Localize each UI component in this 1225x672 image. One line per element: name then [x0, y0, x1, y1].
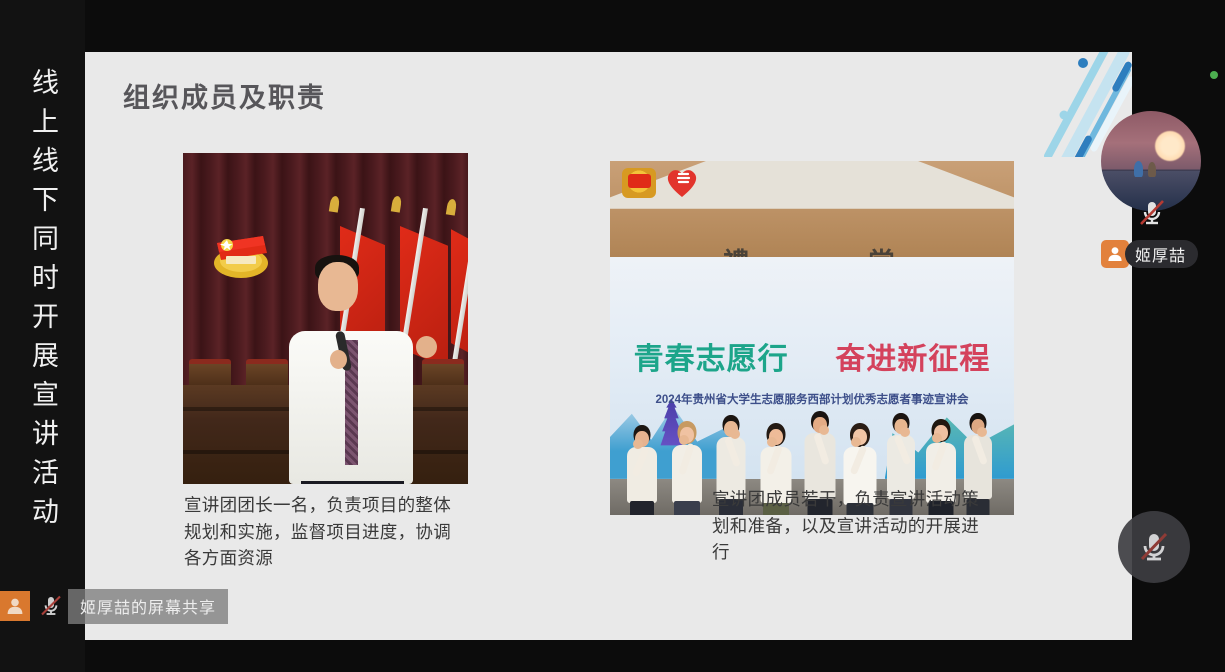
volunteer-heart-hand-icon — [663, 165, 701, 199]
speaker-head — [318, 262, 358, 311]
banner-subtitle: 2024年贵州省大学生志愿服务西部计划优秀志愿者事迹宣讲会 — [610, 391, 1014, 407]
banner-headline: 青春志愿行 奋进新征程 — [610, 334, 1014, 378]
meeting-stage: 线上线下同时开展宣讲活动 组织成员及职责 — [0, 0, 1225, 672]
shared-slide[interactable]: 组织成员及职责 — [85, 52, 1132, 640]
screen-share-status-bar: 姬厚喆的屏幕共享 — [0, 588, 228, 624]
mic-toggle-button[interactable] — [1118, 511, 1190, 583]
person-icon — [0, 591, 30, 621]
mic-muted-icon — [38, 593, 64, 619]
speaker-figure — [280, 252, 428, 484]
chair — [189, 359, 231, 385]
youth-league-emblem-icon — [209, 223, 273, 281]
chair — [422, 359, 464, 385]
banner-headline-part2: 奋进新征程 — [835, 343, 990, 376]
youth-league-badge-icon — [622, 168, 656, 198]
mic-muted-icon — [1135, 196, 1169, 230]
photo-left-speaker — [183, 153, 468, 484]
participant-name-badge: 姬厚喆 — [1101, 240, 1198, 268]
vertical-slogan-text: 线上线下同时开展宣讲活动 — [29, 68, 56, 536]
speaker-hand — [416, 336, 437, 358]
speaker-belt — [301, 481, 405, 484]
photo-right-group: 禮 堂 — [610, 161, 1014, 515]
event-banner: 青春志愿行 奋进新征程 2024年贵州省大学生志愿服务西部计划优秀志愿者事迹宣讲… — [610, 257, 1014, 515]
avatar-figure — [1148, 162, 1156, 177]
avatar-sun — [1155, 131, 1185, 161]
mic-muted-icon — [1135, 528, 1173, 566]
presence-indicator-dot — [1210, 71, 1218, 79]
caption-right: 宣讲团成员若干，负责宣讲活动策划和准备，以及宣讲活动的开展进行 — [712, 486, 984, 566]
banner-headline-part1: 青春志愿行 — [634, 343, 789, 376]
vertical-text-band: 线上线下同时开展宣讲活动 — [0, 0, 85, 672]
participant-name: 姬厚喆 — [1125, 240, 1198, 268]
photo-left-scene — [183, 153, 468, 484]
page-title: 组织成员及职责 — [123, 76, 326, 115]
speaker-hand — [330, 350, 347, 369]
avatar-figure — [1134, 161, 1143, 177]
screen-share-label: 姬厚喆的屏幕共享 — [68, 589, 228, 624]
caption-left: 宣讲团团长一名，负责项目的整体规划和实施，监督项目进度，协调各方面资源 — [184, 492, 462, 572]
photo-right-scene: 禮 堂 — [610, 161, 1014, 515]
